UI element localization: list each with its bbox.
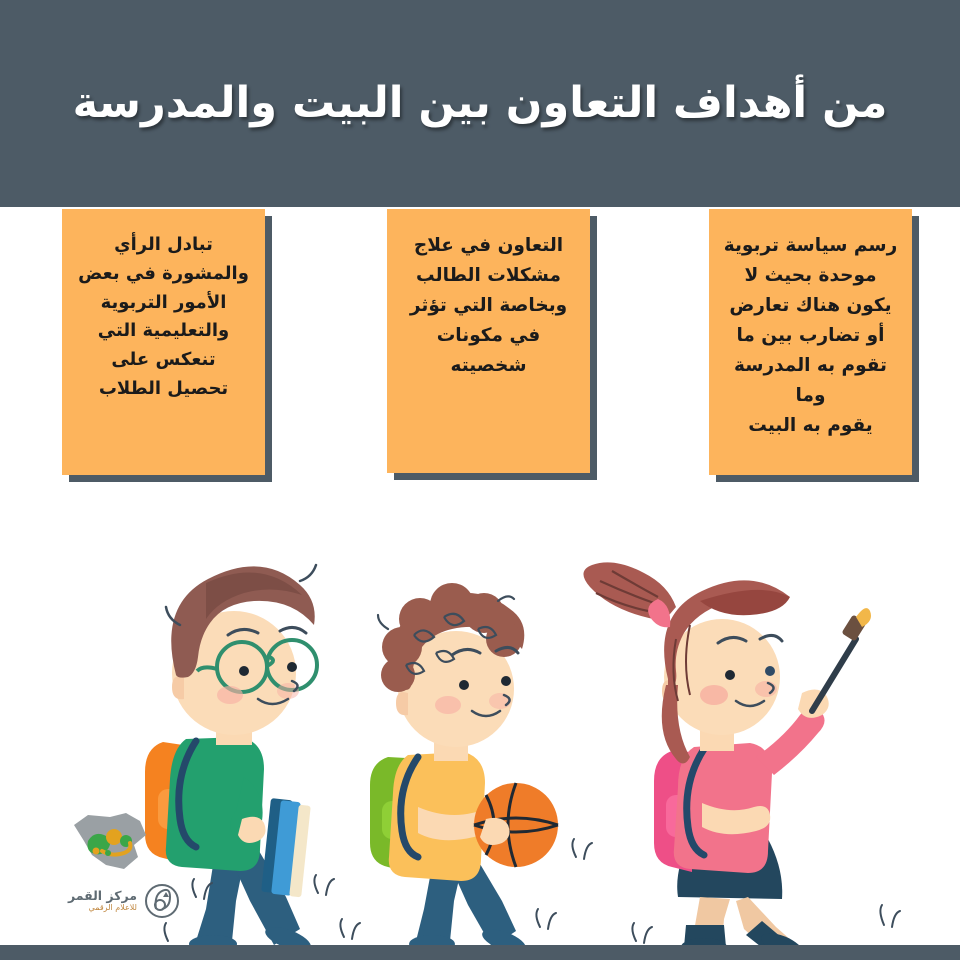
page-title: من أهداف التعاون بين البيت والمدرسة xyxy=(73,75,888,132)
card-policy-text: رسم سياسة تربوية موحدة بحيث لا يكون هناك… xyxy=(721,231,900,441)
paintbrush-icon xyxy=(812,608,871,711)
card-consultation: تبادل الرأي والمشورة في بعض الأمور الترب… xyxy=(62,209,265,475)
illustration-area: مركز القمر للاعلام الرقمي xyxy=(0,489,960,960)
child-boy-with-basketball xyxy=(370,583,558,957)
card-policy: رسم سياسة تربوية موحدة بحيث لا يكون هناك… xyxy=(709,209,912,475)
card-problems-text: التعاون في علاج مشكلات الطالب وبخاصة الت… xyxy=(410,231,567,381)
center-logo-mark-icon xyxy=(144,883,180,919)
cards-row: رسم سياسة تربوية موحدة بحيث لا يكون هناك… xyxy=(0,209,960,489)
books-icon xyxy=(261,798,311,897)
child-girl-with-paintbrush xyxy=(583,562,871,960)
ponytail xyxy=(583,562,676,627)
center-logo-name: مركز القمر xyxy=(68,889,137,902)
card-consultation-text: تبادل الرأي والمشورة في بعض الأمور الترب… xyxy=(78,231,249,404)
iraq-map-logo xyxy=(68,811,152,873)
card-problems: التعاون في علاج مشكلات الطالب وبخاصة الت… xyxy=(387,209,590,473)
infographic-page: من أهداف التعاون بين البيت والمدرسة رسم … xyxy=(0,0,960,960)
qamar-media-center-logo: مركز القمر للاعلام الرقمي xyxy=(52,881,180,921)
center-logo-subtitle: للاعلام الرقمي xyxy=(68,904,137,912)
header-banner: من أهداف التعاون بين البيت والمدرسة xyxy=(0,0,960,207)
footer-bar xyxy=(0,945,960,960)
